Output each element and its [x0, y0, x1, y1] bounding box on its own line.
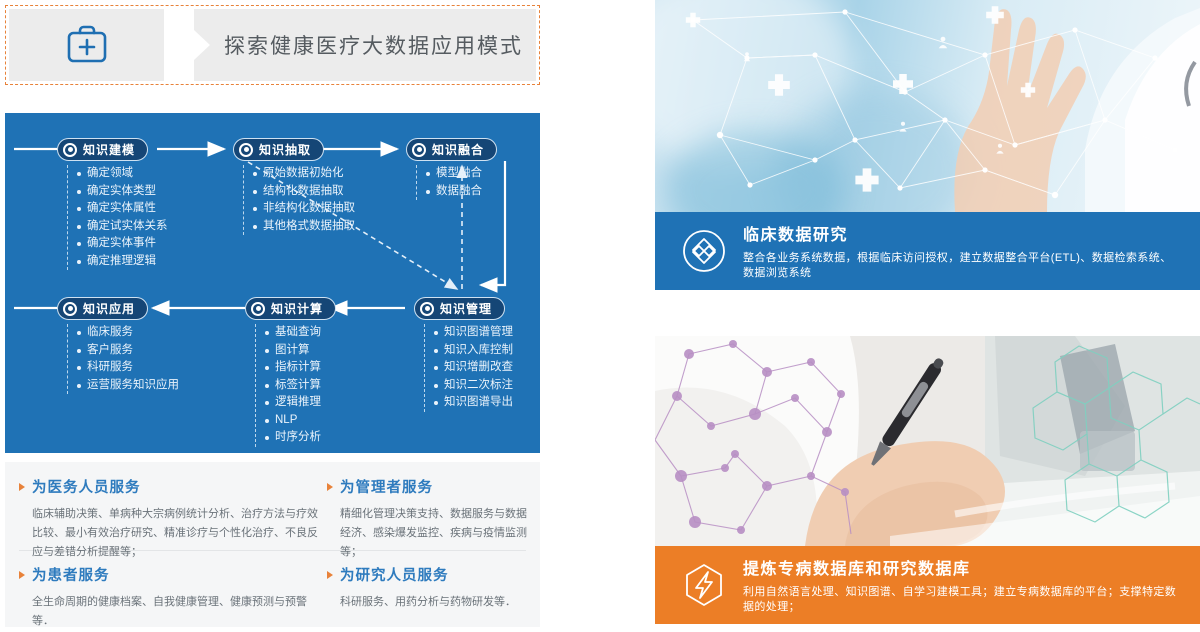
diagram-node-knowledge-computation[interactable]: 知识计算 — [245, 297, 336, 320]
service-for-managers[interactable]: 为管理者服务 精细化管理决策支持、数据服务与数据经济、感染爆发监控、疾病与疫情监… — [327, 476, 532, 562]
interlocking-blocks-circle-icon — [681, 228, 727, 274]
service-description: 科研服务、用药分析与药物研发等． — [340, 593, 532, 612]
list-item: 知识入库控制 — [434, 342, 513, 360]
list-item: 其他格式数据抽取 — [253, 218, 355, 236]
right-column: 临床数据研究 整合各业务系统数据，根据临床访问授权，建立数据整合平台(ETL)、… — [655, 0, 1200, 632]
list-item: 客户服务 — [77, 342, 179, 360]
node-marker-icon — [239, 143, 253, 157]
node-marker-icon — [63, 302, 77, 316]
card-caption-database: 提炼专病数据库和研究数据库 利用自然语言处理、知识图谱、自学习建模工具；建立专病… — [655, 546, 1200, 624]
triangle-bullet-icon — [19, 571, 25, 579]
diagram-node-knowledge-modeling[interactable]: 知识建模 — [57, 138, 148, 161]
diagram-list-knowledge-modeling: 确定领域 确定实体类型 确定实体属性 确定试实体关系 确定实体事件 确定推理逻辑 — [67, 165, 168, 270]
medical-bag-plus-icon — [9, 9, 164, 81]
card-text-block: 临床数据研究 整合各业务系统数据，根据临床访问授权，建立数据整合平台(ETL)、… — [743, 221, 1180, 281]
service-title: 为患者服务 — [19, 564, 319, 585]
list-item: 标签计算 — [265, 377, 321, 395]
card-clinical-data-research[interactable]: 临床数据研究 整合各业务系统数据，根据临床访问授权，建立数据整合平台(ETL)、… — [655, 0, 1200, 290]
triangle-bullet-icon — [327, 571, 333, 579]
service-for-researchers[interactable]: 为研究人员服务 科研服务、用药分析与药物研发等． — [327, 564, 532, 612]
page-title: 探索健康医疗大数据应用模式 — [224, 9, 526, 81]
list-item: 知识图谱导出 — [434, 394, 513, 412]
card-description: 利用自然语言处理、知识图谱、自学习建模工具；建立专病数据库的平台；支撑特定数据的… — [743, 585, 1180, 615]
diagram-list-knowledge-extraction: 原始数据初始化 结构化数据抽取 非结构化数据抽取 其他格式数据抽取 — [243, 165, 355, 235]
list-item: 原始数据初始化 — [253, 165, 355, 183]
card-caption-clinical: 临床数据研究 整合各业务系统数据，根据临床访问授权，建立数据整合平台(ETL)、… — [655, 212, 1200, 290]
diagram-node-knowledge-management[interactable]: 知识管理 — [414, 297, 505, 320]
diagram-node-knowledge-extraction[interactable]: 知识抽取 — [233, 138, 324, 161]
diagram-list-knowledge-computation: 基础查询 图计算 指标计算 标签计算 逻辑推理 NLP 时序分析 — [255, 324, 321, 447]
list-item: 图计算 — [265, 342, 321, 360]
list-item: 结构化数据抽取 — [253, 183, 355, 201]
service-for-medical-staff[interactable]: 为医务人员服务 临床辅助决策、单病种大宗病例统计分析、治疗方法与疗效比较、最小有… — [19, 476, 319, 562]
diagram-list-knowledge-application: 临床服务 客户服务 科研服务 运营服务知识应用 — [67, 324, 179, 394]
node-marker-icon — [251, 302, 265, 316]
header-banner: 探索健康医疗大数据应用模式 — [5, 5, 540, 85]
list-item: 知识图谱管理 — [434, 324, 513, 342]
list-item: 模型融合 — [426, 165, 482, 183]
list-item: 指标计算 — [265, 359, 321, 377]
services-grid: 为医务人员服务 临床辅助决策、单病种大宗病例统计分析、治疗方法与疗效比较、最小有… — [5, 462, 540, 627]
list-item: 确定实体事件 — [77, 235, 168, 253]
triangle-bullet-icon — [19, 483, 25, 491]
node-marker-icon — [412, 143, 426, 157]
list-item: 确定实体类型 — [77, 183, 168, 201]
card-description: 整合各业务系统数据，根据临床访问授权，建立数据整合平台(ETL)、数据检索系统、… — [743, 251, 1180, 281]
list-item: 确定推理逻辑 — [77, 253, 168, 271]
list-item: 非结构化数据抽取 — [253, 200, 355, 218]
infographic-page: 探索健康医疗大数据应用模式 — [0, 0, 1200, 632]
list-item: 临床服务 — [77, 324, 179, 342]
list-item: 基础查询 — [265, 324, 321, 342]
diagram-list-knowledge-fusion: 模型融合 数据融合 — [416, 165, 482, 200]
card-text-block: 提炼专病数据库和研究数据库 利用自然语言处理、知识图谱、自学习建模工具；建立专病… — [743, 555, 1180, 615]
list-item: 确定领域 — [77, 165, 168, 183]
list-item: 知识增删改查 — [434, 359, 513, 377]
service-description: 全生命周期的健康档案、自我健康管理、健康预测与预警等． — [32, 593, 319, 631]
list-item: NLP — [265, 412, 321, 430]
list-item: 知识二次标注 — [434, 377, 513, 395]
list-item: 运营服务知识应用 — [77, 377, 179, 395]
diagram-list-knowledge-management: 知识图谱管理 知识入库控制 知识增删改查 知识二次标注 知识图谱导出 — [424, 324, 513, 412]
service-title: 为管理者服务 — [327, 476, 532, 497]
banner-arrow-icon — [194, 30, 210, 60]
list-item: 时序分析 — [265, 429, 321, 447]
card-title: 临床数据研究 — [743, 221, 1180, 245]
service-title: 为医务人员服务 — [19, 476, 319, 497]
list-item: 数据融合 — [426, 183, 482, 201]
diagram-node-knowledge-application[interactable]: 知识应用 — [57, 297, 148, 320]
diagram-node-knowledge-fusion[interactable]: 知识融合 — [406, 138, 497, 161]
card-disease-research-database[interactable]: 提炼专病数据库和研究数据库 利用自然语言处理、知识图谱、自学习建模工具；建立专病… — [655, 336, 1200, 632]
list-item: 确定试实体关系 — [77, 218, 168, 236]
service-description: 精细化管理决策支持、数据服务与数据经济、感染爆发监控、疾病与疫情监测等； — [340, 505, 532, 562]
banner-notch — [164, 9, 194, 81]
service-for-patients[interactable]: 为患者服务 全生命周期的健康档案、自我健康管理、健康预测与预警等． — [19, 564, 319, 631]
hexagon-lightning-icon — [681, 562, 727, 608]
header-banner-inner: 探索健康医疗大数据应用模式 — [9, 9, 536, 81]
knowledge-graph-diagram: 知识建模 确定领域 确定实体类型 确定实体属性 确定试实体关系 确定实体事件 确… — [5, 113, 540, 453]
photo-researcher-writing — [655, 336, 1200, 546]
left-column: 探索健康医疗大数据应用模式 — [0, 0, 545, 632]
service-title: 为研究人员服务 — [327, 564, 532, 585]
card-title: 提炼专病数据库和研究数据库 — [743, 555, 1180, 579]
list-item: 逻辑推理 — [265, 394, 321, 412]
node-marker-icon — [420, 302, 434, 316]
photo-doctor-network — [655, 0, 1200, 212]
triangle-bullet-icon — [327, 483, 333, 491]
list-item: 科研服务 — [77, 359, 179, 377]
list-item: 确定实体属性 — [77, 200, 168, 218]
node-marker-icon — [63, 143, 77, 157]
service-description: 临床辅助决策、单病种大宗病例统计分析、治疗方法与疗效比较、最小有效治疗研究、精准… — [32, 505, 319, 562]
